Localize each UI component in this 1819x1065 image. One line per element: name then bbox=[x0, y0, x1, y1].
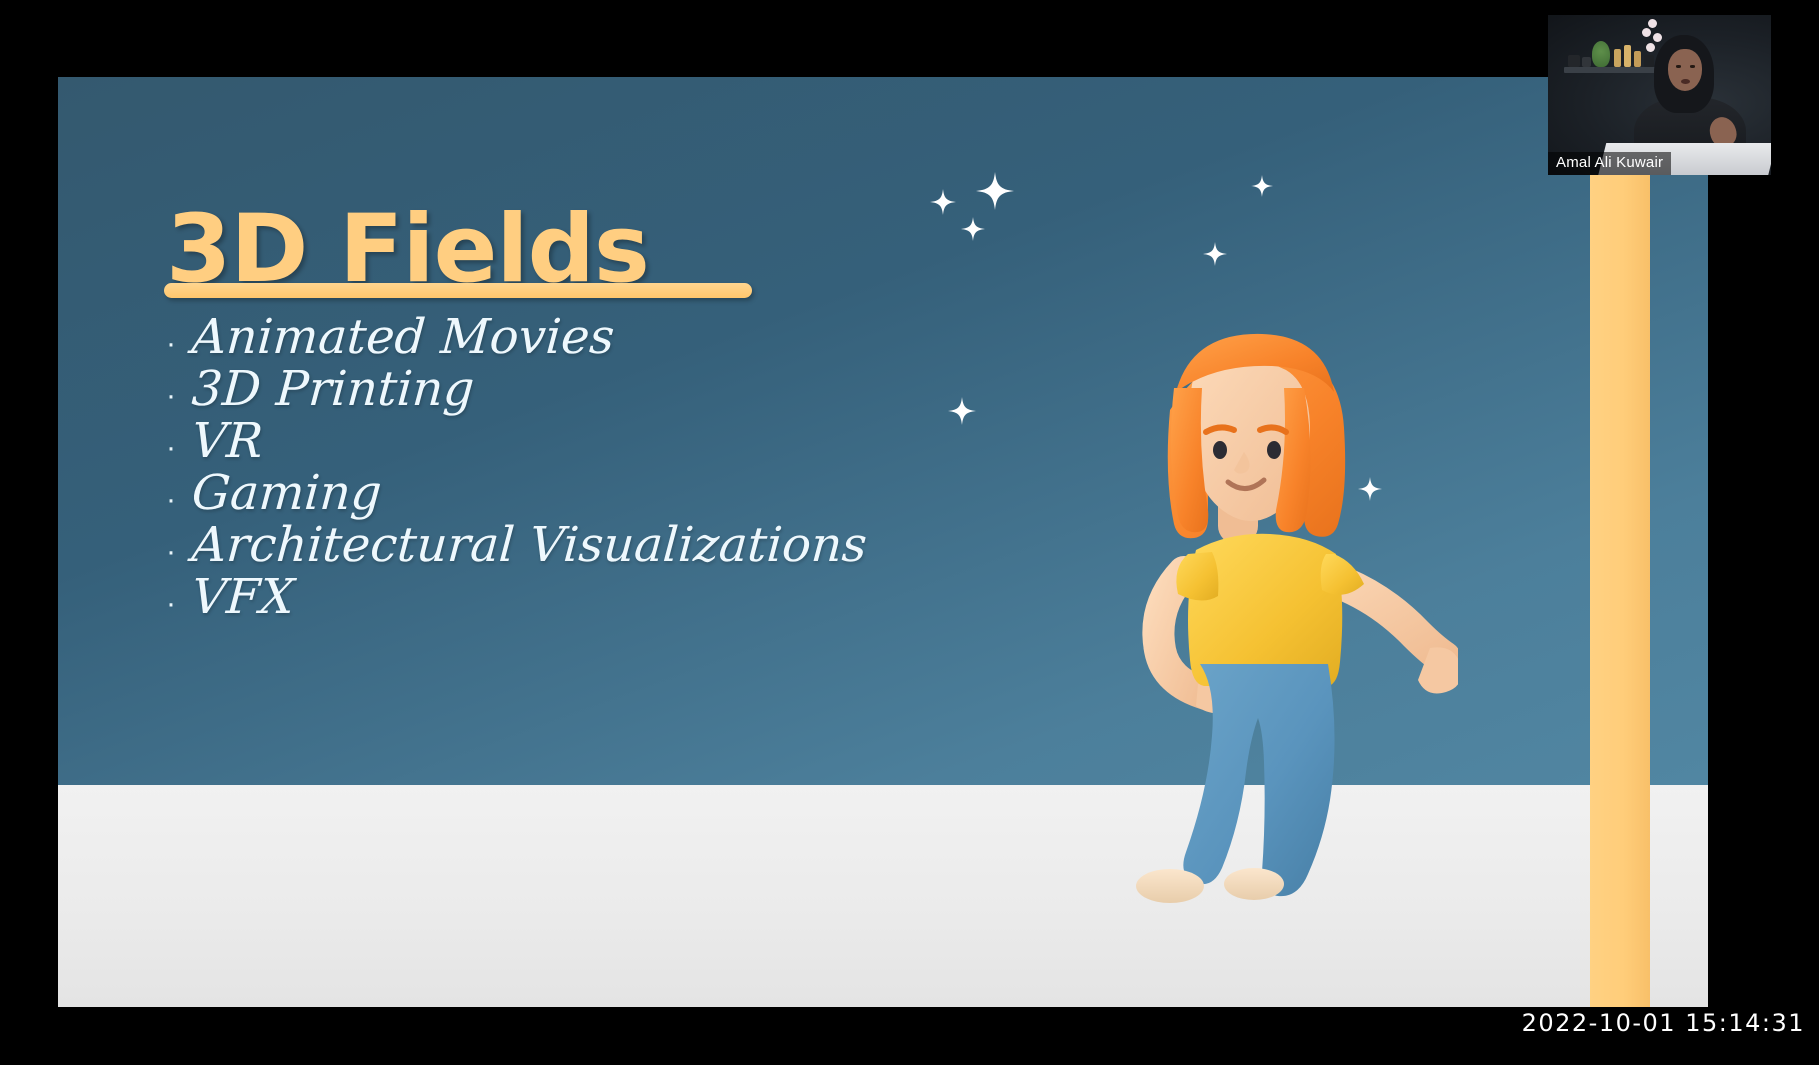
list-item-label: Architectural Visualizations bbox=[190, 521, 868, 569]
list-item: · Animated Movies bbox=[166, 313, 867, 365]
character-illustration bbox=[1078, 292, 1458, 912]
presentation-slide[interactable]: 3D Fields · Animated Movies · 3D Printin… bbox=[58, 77, 1708, 1007]
slide-background-floor bbox=[58, 785, 1708, 1007]
list-item-label: Animated Movies bbox=[190, 313, 616, 361]
screen-share-stage: 3D Fields · Animated Movies · 3D Printin… bbox=[0, 0, 1819, 1065]
bullet-dot-icon: · bbox=[166, 589, 192, 619]
participant-name-label: Amal Ali Kuwair bbox=[1548, 152, 1671, 175]
mouth bbox=[1681, 79, 1690, 84]
participant-face bbox=[1668, 49, 1702, 91]
webcam-thumbnail[interactable]: Amal Ali Kuwair bbox=[1548, 15, 1771, 175]
bullet-dot-icon: · bbox=[166, 329, 192, 359]
candle-icon bbox=[1614, 49, 1621, 67]
list-item-label: Gaming bbox=[190, 469, 383, 517]
bullet-dot-icon: · bbox=[166, 433, 192, 463]
plant-icon bbox=[1592, 41, 1610, 67]
shelf-object-icon bbox=[1568, 55, 1580, 67]
list-item: · 3D Printing bbox=[166, 365, 867, 417]
decorative-pillar bbox=[1590, 77, 1650, 1007]
list-item: · VFX bbox=[166, 573, 867, 625]
candle-icon bbox=[1624, 45, 1631, 67]
list-item-label: 3D Printing bbox=[190, 365, 475, 413]
list-item: · Gaming bbox=[166, 469, 867, 521]
list-item-label: VFX bbox=[190, 573, 295, 621]
eye-left bbox=[1676, 65, 1681, 68]
eye-right bbox=[1690, 65, 1695, 68]
list-item: · Architectural Visualizations bbox=[166, 521, 867, 573]
list-item: · VR bbox=[166, 417, 867, 469]
list-item-label: VR bbox=[190, 417, 264, 465]
shelf-object-icon bbox=[1582, 57, 1591, 67]
bullet-dot-icon: · bbox=[166, 537, 192, 567]
title-underline-rule bbox=[164, 283, 752, 298]
fields-bullet-list: · Animated Movies · 3D Printing · VR · G… bbox=[166, 313, 867, 625]
recording-timestamp: 2022-10-01 15:14:31 bbox=[1522, 1009, 1805, 1037]
bullet-dot-icon: · bbox=[166, 485, 192, 515]
bullet-dot-icon: · bbox=[166, 381, 192, 411]
